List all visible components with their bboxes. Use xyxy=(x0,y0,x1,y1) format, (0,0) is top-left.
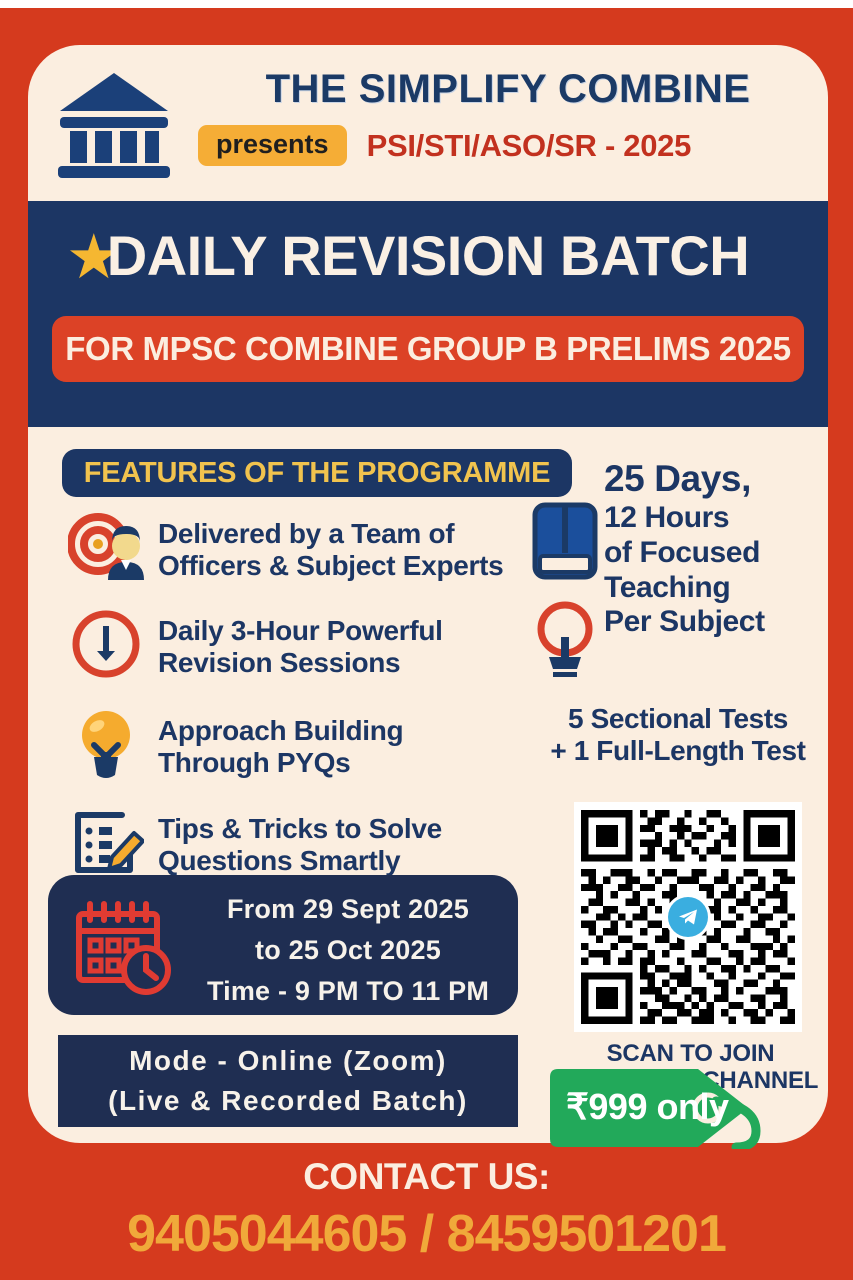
main-banner: ★ DAILY REVISION BATCH FOR MPSC COMBINE … xyxy=(28,201,828,427)
qr-code[interactable] xyxy=(574,802,802,1032)
mode-text: Mode - Online (Zoom) (Live & Recorded Ba… xyxy=(108,1041,468,1121)
feature-item: Approach Building Through PYQs xyxy=(68,707,403,786)
lightbulb-icon xyxy=(68,707,144,786)
duration-block: 25 Days, 12 Hours of Focused Teaching Pe… xyxy=(604,458,828,640)
target-officer-icon xyxy=(68,510,144,589)
clock-icon xyxy=(68,607,144,686)
mode-box: Mode - Online (Zoom) (Live & Recorded Ba… xyxy=(58,1035,518,1127)
price-tag-icon: ₹999 only xyxy=(548,1067,788,1149)
feature-text: Daily 3-Hour Powerful Revision Sessions xyxy=(158,615,443,678)
contact-label: CONTACT US: xyxy=(0,1156,853,1198)
schedule-box: From 29 Sept 2025 to 25 Oct 2025 Time - … xyxy=(48,875,518,1015)
duration-headline: 25 Days, xyxy=(604,458,828,501)
bank-institute-icon xyxy=(54,67,174,182)
telegram-icon xyxy=(665,894,711,940)
feature-text: Delivered by a Team of Officers & Subjec… xyxy=(158,518,503,581)
price-label: ₹999 only xyxy=(566,1086,728,1128)
feature-text: Tips & Tricks to Solve Questions Smartly xyxy=(158,813,442,876)
feature-text: Approach Building Through PYQs xyxy=(158,715,403,778)
lamp-bulb-icon xyxy=(531,595,599,686)
poster-background: THE SIMPLIFY COMBINE presents PSI/STI/AS… xyxy=(0,8,853,1280)
book-icon xyxy=(531,501,599,586)
feature-item: Tips & Tricks to Solve Questions Smartly xyxy=(68,805,442,884)
schedule-text: From 29 Sept 2025 to 25 Oct 2025 Time - … xyxy=(188,889,508,1012)
contact-numbers: 9405044605 / 8459501201 xyxy=(0,1204,853,1264)
banner-title: DAILY REVISION BATCH xyxy=(28,223,828,288)
brand-title: THE SIMPLIFY COMBINE xyxy=(198,67,818,112)
feature-item: Delivered by a Team of Officers & Subjec… xyxy=(68,510,503,589)
exam-name: PSI/STI/ASO/SR - 2025 xyxy=(367,128,691,164)
banner-subtitle: FOR MPSC COMBINE GROUP B PRELIMS 2025 xyxy=(52,316,804,382)
duration-detail: 12 Hours of Focused Teaching Per Subject xyxy=(604,501,828,640)
header-subrow: presents PSI/STI/ASO/SR - 2025 xyxy=(198,125,828,166)
telegram-icon-inner xyxy=(668,897,708,937)
poster-card: THE SIMPLIFY COMBINE presents PSI/STI/AS… xyxy=(28,45,828,1143)
calendar-clock-icon xyxy=(74,900,178,1001)
features-heading: FEATURES OF THE PROGRAMME xyxy=(62,449,572,497)
tests-info: 5 Sectional Tests + 1 Full-Length Test xyxy=(528,703,828,768)
feature-item: Daily 3-Hour Powerful Revision Sessions xyxy=(68,607,443,686)
header: THE SIMPLIFY COMBINE presents PSI/STI/AS… xyxy=(28,45,828,200)
presents-badge: presents xyxy=(198,125,347,166)
checklist-pencil-icon xyxy=(68,805,144,884)
